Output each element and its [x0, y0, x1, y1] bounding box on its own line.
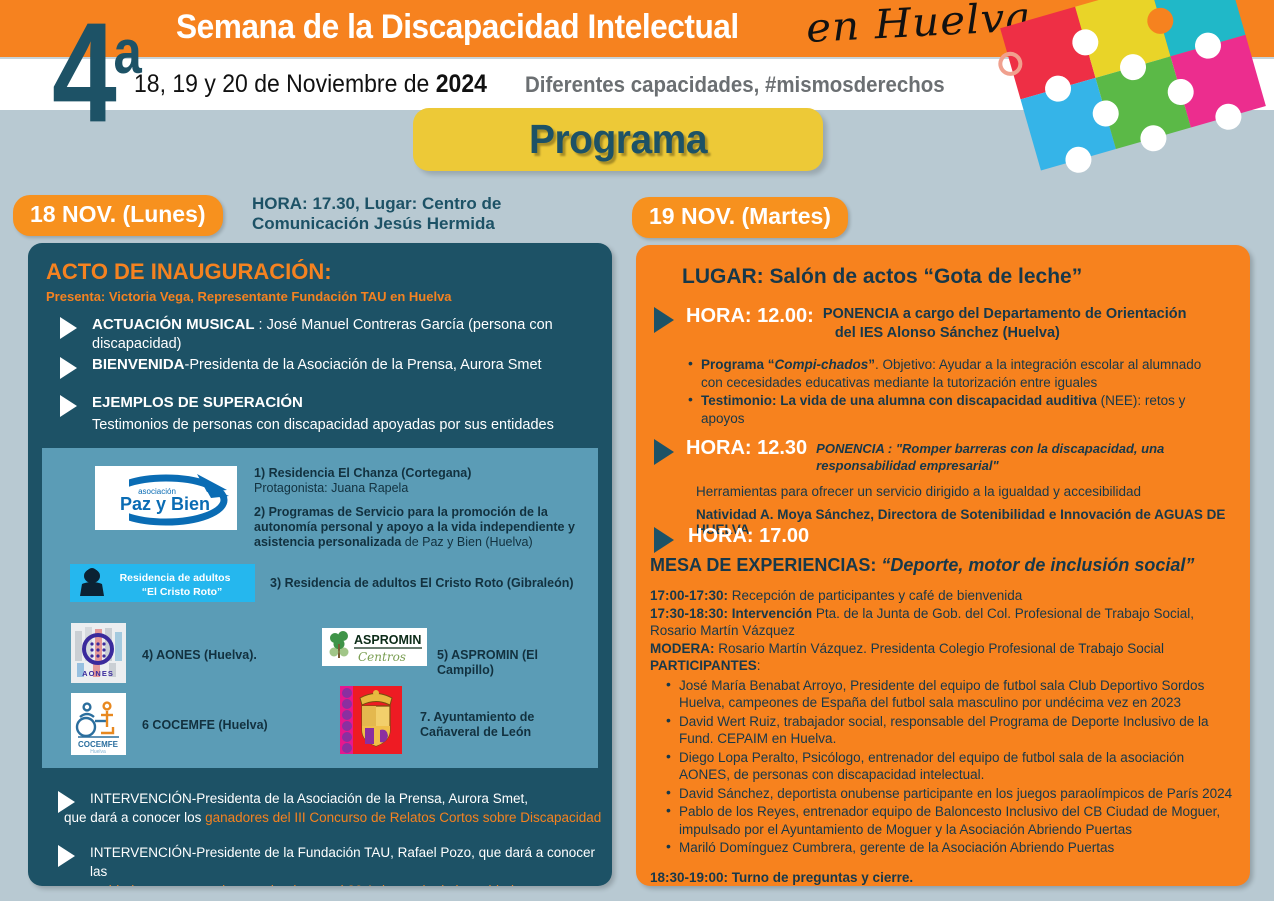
- logo-canaveral-shield: [340, 686, 402, 754]
- triangle-bullet-icon: [60, 395, 77, 417]
- day1-venue: HORA: 17.30, Lugar: Centro de Comunicaci…: [252, 194, 582, 234]
- day2-slot-2-ponencia-line1: PONENCIA : "Romper barreras con la disca…: [816, 440, 1164, 457]
- day2-mesa-title: “Deporte, motor de inclusión social”: [881, 555, 1194, 575]
- entity-4-text: 4) AONES (Huelva).: [142, 648, 257, 662]
- day2-closing-line: 18:30-19:00: Turno de preguntas y cierre…: [650, 869, 1235, 887]
- entity-1-caption: 1) Residencia El Chanza (Cortegana) Prot…: [254, 466, 584, 550]
- entity-6-text: 6 COCEMFE (Huelva): [142, 718, 268, 732]
- day1-item-2: EJEMPLOS DE SUPERACIÓN Testimonios de pe…: [60, 393, 600, 435]
- logo-cocemfe: COCEMFE Huelva: [71, 693, 126, 755]
- day2-participants-list: José María Benabat Arroyo, Presidente de…: [664, 677, 1234, 857]
- entity-3-caption: 3) Residencia de adultos El Cristo Roto …: [270, 576, 590, 591]
- day2-slot-2-head: HORA: 12.30 PONENCIA : "Romper barreras …: [686, 437, 1234, 474]
- day2-mesa-line-0-bold: 17:00-17:30:: [650, 588, 728, 603]
- entity-7-caption: 7. Ayuntamiento de Cañaveral de León: [420, 710, 580, 740]
- svg-text:COCEMFE: COCEMFE: [78, 740, 119, 749]
- svg-text:Huelva: Huelva: [90, 749, 106, 755]
- entity-7-line2: Cañaveral de León: [420, 725, 531, 739]
- day1-item-0-text: ACTUACIÓN MUSICAL : José Manuel Contrera…: [92, 315, 600, 354]
- svg-text:ASPROMIN: ASPROMIN: [354, 633, 421, 647]
- day2-mesa-label: MESA DE EXPERIENCIAS:: [650, 555, 881, 575]
- logo-aspromin: ASPROMIN Centros: [322, 628, 427, 666]
- day2-slot-2: HORA: 12.30 PONENCIA : "Romper barreras …: [654, 437, 1234, 537]
- day2-slot-3: HORA: 17.00: [654, 525, 1234, 548]
- event-dates: 18, 19 y 20 de Noviembre de 2024: [134, 70, 487, 99]
- edition-digit: 4: [52, 0, 113, 152]
- day2-mesa-line-0: 17:00-17:30: Recepción de participantes …: [650, 587, 1235, 605]
- day1-item-2-bold: EJEMPLOS DE SUPERACIÓN: [92, 394, 303, 411]
- day1-presenta: Presenta: Victoria Vega, Representante F…: [46, 289, 452, 304]
- entity-6-caption: 6 COCEMFE (Huelva): [142, 718, 268, 733]
- day2-b0-bold: Programa “: [701, 357, 775, 372]
- day1-item-1: BIENVENIDA-Presidenta de la Asociación d…: [60, 355, 600, 375]
- day2-mesa-line-0-rest: Recepción de participantes y café de bie…: [728, 588, 1022, 603]
- list-item: José María Benabat Arroyo, Presidente de…: [664, 677, 1234, 712]
- day1-venue-line2: Comunicación Jesús Hermida: [252, 214, 582, 234]
- day1-item-2-text: EJEMPLOS DE SUPERACIÓN Testimonios de pe…: [92, 393, 600, 435]
- day1-item-1-text: BIENVENIDA-Presidenta de la Asociación d…: [92, 355, 600, 375]
- svg-text:Centros: Centros: [358, 650, 406, 664]
- canaveral-coat-of-arms-icon: [340, 686, 402, 754]
- entity-1-line1: 1) Residencia El Chanza (Cortegana): [254, 466, 471, 480]
- triangle-bullet-icon: [654, 307, 674, 333]
- day1-item-0: ACTUACIÓN MUSICAL : José Manuel Contrera…: [60, 315, 600, 354]
- triangle-bullet-icon: [60, 357, 77, 379]
- entity-2-caption: 2) Programas de Servicio para la promoci…: [254, 505, 584, 550]
- day-pill-18-nov[interactable]: 18 NOV. (Lunes): [13, 195, 223, 236]
- day2-mesa-line-3: PARTICIPANTES:: [650, 657, 1235, 675]
- day1-closing-0-line2-white: que dará a conocer los: [64, 810, 205, 825]
- day1-closing-0: INTERVENCIÓN-Presidenta de la Asociación…: [58, 789, 603, 827]
- day1-closing-0-line1: INTERVENCIÓN-Presidenta de la Asociación…: [90, 791, 528, 806]
- list-item: Testimonio: La vida de una alumna con di…: [686, 392, 1221, 427]
- day1-closing-0-line2: que dará a conocer los ganadores del III…: [64, 809, 603, 827]
- day1-entities-panel: asociación Paz y Bien 1) Residencia El C…: [42, 448, 598, 768]
- triangle-bullet-icon: [654, 527, 674, 553]
- aspromin-logo-icon: ASPROMIN Centros: [322, 628, 427, 666]
- day2-slot-1-title-line1: PONENCIA a cargo del Departamento de Ori…: [823, 305, 1187, 324]
- page-title: Semana de la Discapacidad Intelectual: [176, 8, 739, 47]
- aones-logo-icon: AONES: [71, 623, 126, 683]
- day2-slot-1-title: PONENCIA a cargo del Departamento de Ori…: [823, 305, 1187, 343]
- day2-mesa-body: 17:00-17:30: Recepción de participantes …: [650, 587, 1235, 886]
- day2-slot-2-ponencia: PONENCIA : "Romper barreras con la disca…: [816, 437, 1164, 474]
- day1-closing-1: INTERVENCIÓN-Presidente de la Fundación …: [58, 843, 603, 886]
- day1-closing-1-text: INTERVENCIÓN-Presidente de la Fundación …: [90, 843, 603, 881]
- entity-1-line2: Protagonista: Juana Rapela: [254, 481, 584, 496]
- day1-acto-title: ACTO DE INAUGURACIÓN:: [46, 259, 332, 285]
- day2-slot-1-head: HORA: 12.00: PONENCIA a cargo del Depart…: [686, 305, 1234, 343]
- programa-badge-label: Programa: [423, 108, 813, 171]
- day1-item-1-bold: BIENVENIDA: [92, 356, 185, 373]
- day2-mesa-line-1: 17:30-18:30: Intervención Pta. de la Jun…: [650, 605, 1235, 640]
- day2-slot-2-time: HORA: 12.30: [686, 437, 807, 460]
- day2-slot-1-time: HORA: 12.00:: [686, 305, 814, 328]
- day2-mesa-line-2: MODERA: Rosario Martín Vázquez. Presiden…: [650, 640, 1235, 658]
- day1-item-0-bold: ACTUACIÓN MUSICAL: [92, 316, 255, 333]
- poster-root: 4a Semana de la Discapacidad Intelectual…: [0, 0, 1274, 901]
- event-slogan: Diferentes capacidades, #mismosderechos: [525, 72, 945, 98]
- day2-mesa-line-3-rest: :: [757, 658, 761, 673]
- entity-4-caption: 4) AONES (Huelva).: [142, 648, 257, 663]
- list-item: Pablo de los Reyes, entrenador equipo de…: [664, 803, 1234, 838]
- list-item: David Sánchez, deportista onubense parti…: [664, 785, 1234, 803]
- day1-card: ACTO DE INAUGURACIÓN: Presenta: Victoria…: [28, 243, 612, 886]
- event-year: 2024: [436, 70, 487, 98]
- day1-closing-1-line1: INTERVENCIÓN-Presidente de la Fundación …: [90, 845, 595, 879]
- day2-slot-1: HORA: 12.00: PONENCIA a cargo del Depart…: [654, 305, 1234, 428]
- day2-b0-italic: Compi-chados: [775, 357, 869, 372]
- cristo-roto-logo-icon: Residencia de adultos “El Cristo Roto”: [70, 564, 255, 602]
- day1-item-1-rest: -Presidenta de la Asociación de la Prens…: [185, 357, 542, 373]
- edition-number: 4a: [52, 0, 142, 144]
- day2-lugar: LUGAR: Salón de actos “Gota de leche”: [682, 265, 1082, 289]
- day1-venue-line1: HORA: 17.30, Lugar: Centro de: [252, 194, 582, 214]
- day2-mesa-line-2-bold: MODERA:: [650, 641, 715, 656]
- day2-mesa-line-2-rest: Rosario Martín Vázquez. Presidenta Coleg…: [715, 641, 1165, 656]
- day2-b1-bold: Testimonio: La vida de una alumna con di…: [701, 393, 1097, 408]
- day2-slot-2-desc: Herramientas para ofrecer un servicio di…: [696, 484, 1234, 499]
- logo-paz-y-bien: asociación Paz y Bien: [95, 466, 237, 530]
- day1-closing-0-line2-orange: ganadores del III Concurso de Relatos Co…: [205, 810, 601, 825]
- entity-5-caption: 5) ASPROMIN (El Campillo): [437, 648, 598, 678]
- day2-slot-3-time: HORA: 17.00: [688, 525, 1234, 548]
- svg-text:“El Cristo Roto”: “El Cristo Roto”: [142, 586, 223, 598]
- day2-slot-1-title-line2: del IES Alonso Sánchez (Huelva): [835, 324, 1187, 343]
- entity-7-line1: 7. Ayuntamiento de: [420, 710, 534, 724]
- list-item: Diego Lopa Peralto, Psicólogo, entrenado…: [664, 749, 1234, 784]
- day1-closing-1-line2-orange: entidades y personas homenajeadas en el …: [90, 882, 603, 886]
- svg-text:AONES: AONES: [82, 669, 114, 678]
- day2-mesa-heading: MESA DE EXPERIENCIAS: “Deporte, motor de…: [650, 555, 1194, 576]
- day2-card: LUGAR: Salón de actos “Gota de leche” HO…: [636, 245, 1250, 886]
- svg-text:Paz y Bien: Paz y Bien: [120, 494, 210, 514]
- programa-badge: Programa: [413, 108, 823, 171]
- list-item: Mariló Domínguez Cumbrera, gerente de la…: [664, 839, 1234, 857]
- svg-text:Residencia de adultos: Residencia de adultos: [120, 572, 231, 584]
- day2-mesa-line-3-bold: PARTICIPANTES: [650, 658, 757, 673]
- entity-3-text: 3) Residencia de adultos El Cristo Roto …: [270, 576, 574, 590]
- entity-5-text: 5) ASPROMIN (El Campillo): [437, 648, 538, 677]
- list-item: David Wert Ruiz, trabajador social, resp…: [664, 713, 1234, 748]
- day2-mesa-line-1-bold: 17:30-18:30: Intervención: [650, 606, 812, 621]
- triangle-bullet-icon: [60, 317, 77, 339]
- day2-slot-1-bullets: Programa “Compi-chados”. Objetivo: Ayuda…: [686, 356, 1221, 427]
- triangle-bullet-icon: [58, 791, 75, 813]
- paz-y-bien-logo-icon: asociación Paz y Bien: [95, 466, 237, 530]
- day-pill-19-nov[interactable]: 19 NOV. (Martes): [632, 197, 848, 238]
- logo-cristo-roto: Residencia de adultos “El Cristo Roto”: [70, 564, 255, 602]
- cocemfe-logo-icon: COCEMFE Huelva: [71, 693, 126, 755]
- triangle-bullet-icon: [654, 439, 674, 465]
- entity-2-tail: de Paz y Bien (Huelva): [401, 535, 532, 549]
- list-item: Programa “Compi-chados”. Objetivo: Ayuda…: [686, 356, 1221, 391]
- logo-aones: AONES: [71, 623, 126, 683]
- event-dates-prefix: 18, 19 y 20 de Noviembre de: [134, 70, 436, 98]
- day1-closing-0-text: INTERVENCIÓN-Presidenta de la Asociación…: [90, 789, 603, 808]
- triangle-bullet-icon: [58, 845, 75, 867]
- day1-item-2-second: Testimonios de personas con discapacidad…: [92, 416, 600, 435]
- day2-slot-2-ponencia-line2: responsabilidad empresarial": [816, 457, 1164, 474]
